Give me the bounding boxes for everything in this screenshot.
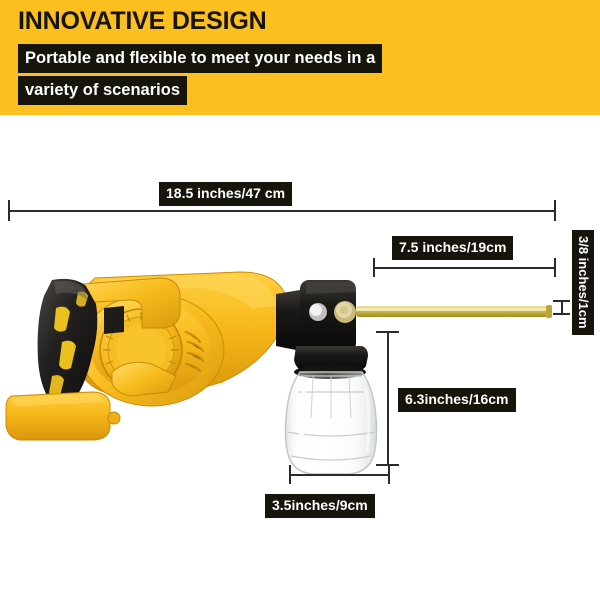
dimension-label-jar-height: 6.3inches/16cm — [398, 388, 516, 412]
dimension-label-total-length: 18.5 inches/47 cm — [159, 182, 292, 206]
dimension-line-tube-diameter — [561, 300, 563, 314]
battery-base — [6, 392, 120, 440]
dimension-tick-right-jar-width — [388, 465, 390, 484]
dimension-line-jar-width — [289, 474, 390, 476]
dimension-tick-top-jar — [376, 331, 399, 333]
dimension-line-total-length — [8, 210, 556, 212]
banner-subtitle-line-2: variety of scenarios — [18, 76, 187, 105]
dimension-label-tube-diameter: 3/8 inches/1cm — [572, 230, 594, 335]
product-illustration-svg — [0, 160, 600, 520]
dimension-line-jar-height — [387, 331, 389, 466]
dimension-tick-right-sprayer — [554, 258, 556, 277]
dimension-line-sprayer-length — [373, 267, 556, 269]
dimension-label-sprayer-length: 7.5 inches/19cm — [392, 236, 513, 260]
product-image — [0, 160, 600, 520]
brass-knob — [334, 301, 356, 323]
brass-tube — [356, 305, 552, 318]
silver-knob — [309, 303, 327, 321]
banner-subtitle-line-1: Portable and flexible to meet your needs… — [18, 44, 382, 73]
transparent-jar — [286, 372, 377, 474]
dimension-tick-left-total — [8, 200, 10, 221]
dimension-tick-bottom-tube — [553, 313, 570, 315]
dimension-tick-right-total — [554, 200, 556, 221]
dimension-tick-top-tube — [553, 300, 570, 302]
header-banner: INNOVATIVE DESIGN Portable and flexible … — [0, 0, 600, 115]
dimension-tick-left-jar-width — [289, 465, 291, 484]
page-title: INNOVATIVE DESIGN — [18, 6, 266, 36]
dimension-tick-left-sprayer — [373, 258, 375, 277]
sprayer-head — [276, 280, 368, 379]
product-infographic: INNOVATIVE DESIGN Portable and flexible … — [0, 0, 600, 600]
dimension-label-jar-width: 3.5inches/9cm — [265, 494, 375, 518]
